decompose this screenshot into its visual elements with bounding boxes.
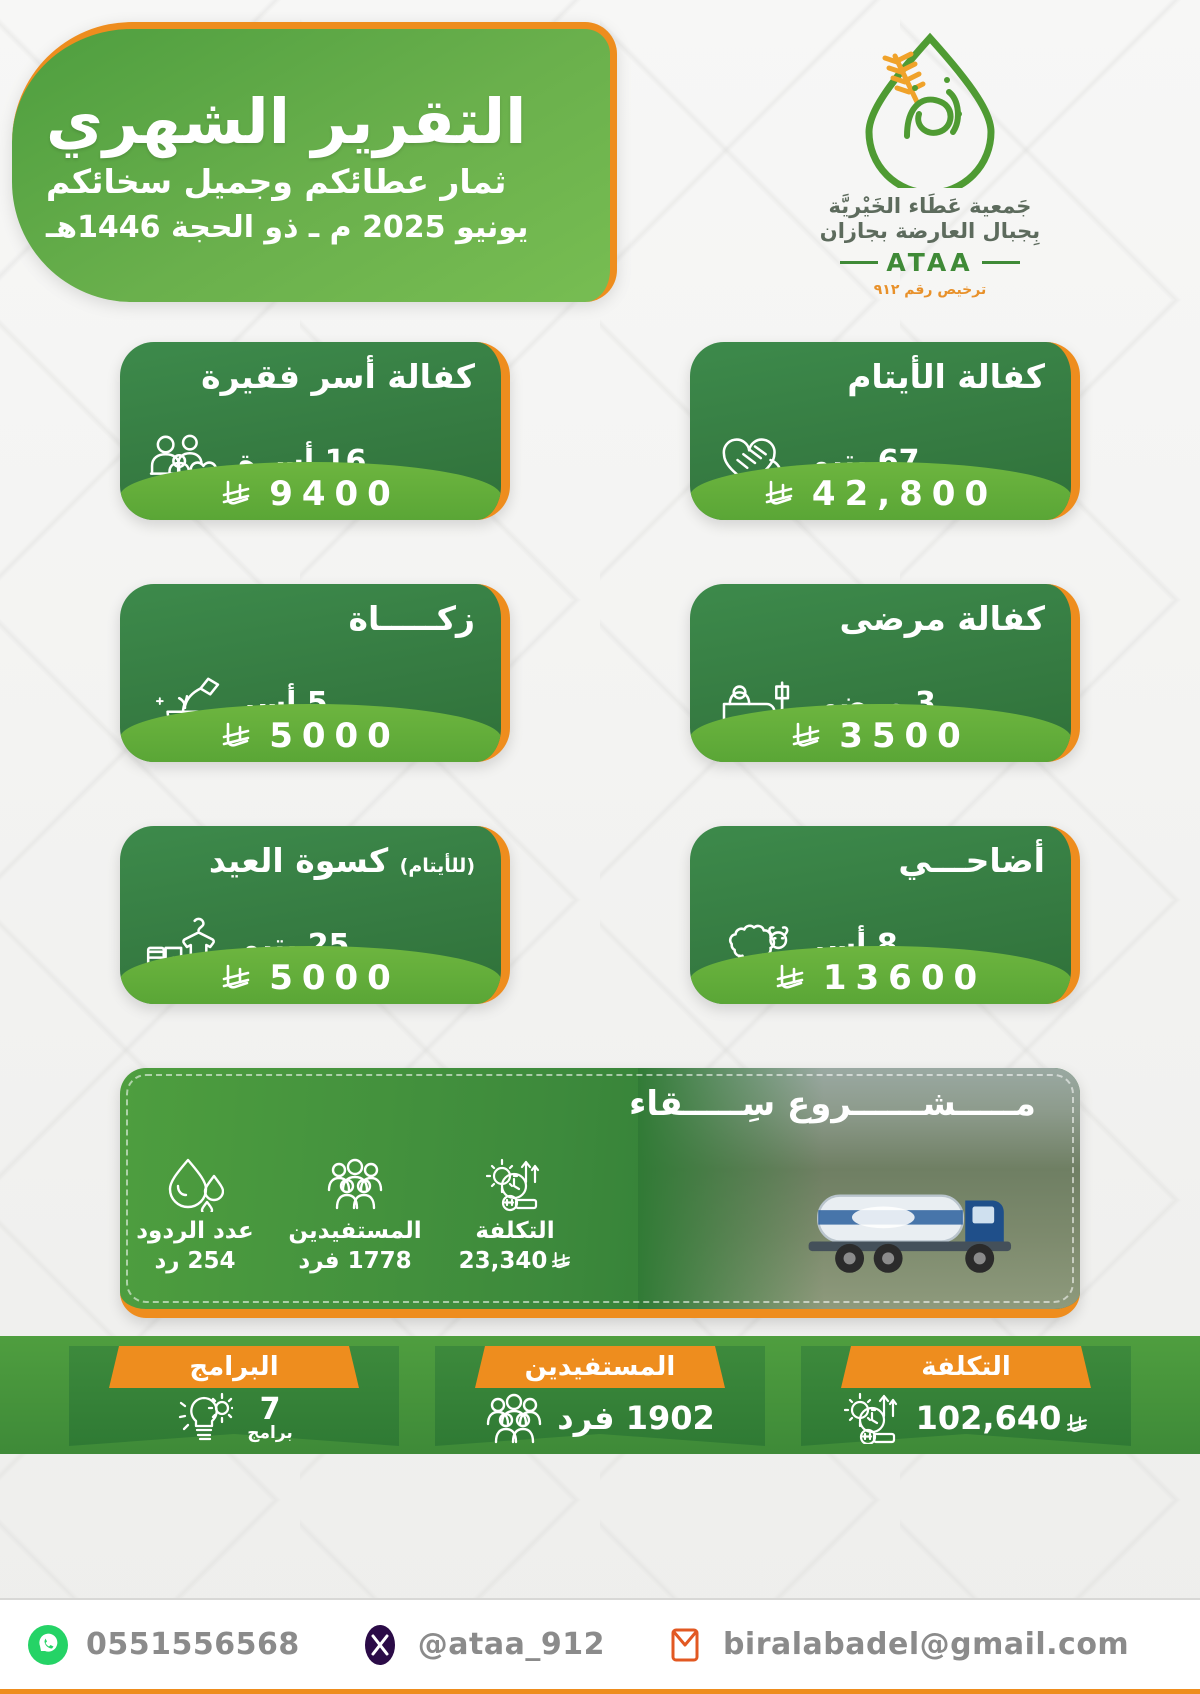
card-amount-value: 13600 xyxy=(823,958,986,998)
logo-name-english: ATAA xyxy=(780,248,1080,277)
logo-name-line1: جَمعية عَطَاء الخَيْريَّة xyxy=(780,194,1080,219)
card-amount-value: 3500 xyxy=(839,716,970,756)
saudi-riyal-icon xyxy=(791,720,821,752)
water-stat-label: المستفيدين xyxy=(280,1218,430,1244)
summary-box-tab: البرامج xyxy=(109,1346,359,1388)
summary-box-programs: البرامج 7 برامج xyxy=(69,1346,399,1446)
card-amount-value: 5000 xyxy=(269,716,400,756)
email-icon xyxy=(663,1623,707,1667)
footer-contact-bar: 0551556568 @ataa_912 biralabadel@gmail.c… xyxy=(0,1598,1200,1694)
water-stat-value-wrap: 1778 فرد xyxy=(280,1248,430,1274)
water-stat-cost: التكلفة 23,340 xyxy=(440,1150,590,1274)
summary-value: 102,640 xyxy=(916,1399,1062,1437)
card-amount-value: 42,800 xyxy=(812,474,997,514)
report-date: يونيو 2025 م ـ ذو الحجة 1446هـ xyxy=(46,208,528,247)
program-card-zakat[interactable]: زكـــــاة xyxy=(120,584,510,762)
water-stat-value: 23,340 xyxy=(459,1248,548,1274)
contact-whatsapp[interactable]: 0551556568 xyxy=(26,1623,300,1667)
organization-logo: جَمعية عَطَاء الخَيْريَّة بِجبال العارضة… xyxy=(780,28,1080,298)
card-title: زكـــــاة xyxy=(146,600,475,638)
card-title: كفالة الأيتام xyxy=(716,358,1045,396)
people-group-icon xyxy=(280,1150,430,1212)
program-cards: كفالة الأيتام 67 يتيم 42,800 xyxy=(0,342,1200,1004)
water-stat-value-wrap: 23,340 xyxy=(440,1248,590,1274)
summary-unit: برامج xyxy=(247,1425,293,1442)
page-subtitle: ثمار عطائكم وجميل سخائكم xyxy=(46,162,506,202)
logo-license: ترخيص رقم ٩١٢ xyxy=(780,282,1080,298)
logo-name-line2: بِجبال العارضة بجازان xyxy=(780,219,1080,244)
summary-strip: البرامج 7 برامج xyxy=(0,1336,1200,1454)
summary-box-content: 1902 فرد xyxy=(435,1392,765,1444)
saudi-riyal-icon xyxy=(221,720,251,752)
summary-box-content: 102,640 xyxy=(801,1392,1131,1444)
card-title: كفالة مرضى xyxy=(716,600,1045,638)
program-row: كفالة الأيتام 67 يتيم 42,800 xyxy=(120,342,1080,520)
contact-x-twitter[interactable]: @ataa_912 xyxy=(358,1623,605,1667)
water-stat-value: 1778 فرد xyxy=(298,1248,411,1274)
card-amount-value: 5000 xyxy=(269,958,400,998)
gear-bulb-icon xyxy=(175,1392,233,1444)
summary-label: التكلفة xyxy=(921,1352,1011,1382)
summary-value: 1902 فرد xyxy=(557,1399,714,1437)
program-card-orphan-sponsorship[interactable]: كفالة الأيتام 67 يتيم 42,800 xyxy=(690,342,1080,520)
water-stat-label: عدد الردود xyxy=(120,1218,270,1244)
water-drop-icon xyxy=(120,1150,270,1212)
card-title: أضاحـــي xyxy=(716,842,1045,880)
saudi-riyal-icon xyxy=(551,1250,571,1272)
contact-text: @ataa_912 xyxy=(418,1627,605,1662)
page-title: التقرير الشهري xyxy=(46,88,526,156)
cost-clock-icon xyxy=(844,1392,902,1444)
logo-droplet-icon xyxy=(855,28,1005,188)
program-row: أضاحـــي 8 أسر 13600 xyxy=(120,826,1080,1004)
infographic-page: جَمعية عَطَاء الخَيْريَّة بِجبال العارضة… xyxy=(0,0,1200,1694)
summary-label: المستفيدين xyxy=(525,1352,676,1382)
program-card-poor-families[interactable]: كفالة أسر فقيرة xyxy=(120,342,510,520)
logo-name-arabic: جَمعية عَطَاء الخَيْريَّة بِجبال العارضة… xyxy=(780,194,1080,244)
water-stat-value: 254 رد xyxy=(154,1248,235,1274)
summary-value-wrap: 7 برامج xyxy=(247,1395,293,1442)
water-project-title: مـــــشــــــروع سِـــــقاء xyxy=(120,1084,1046,1124)
program-card-patients[interactable]: كفالة مرضى 3 مرضى xyxy=(690,584,1080,762)
saudi-riyal-icon xyxy=(1066,1406,1088,1430)
card-title-note: (للأيتام) xyxy=(400,855,475,877)
saudi-riyal-icon xyxy=(221,962,251,994)
water-project-content: مـــــشــــــروع سِـــــقاء عدد الردود 2… xyxy=(120,1068,1080,1309)
saudi-riyal-icon xyxy=(764,478,794,510)
title-card: التقرير الشهري ثمار عطائكم وجميل سخائكم … xyxy=(12,22,617,302)
water-project-stats: عدد الردود 254 رد xyxy=(120,1150,1046,1274)
water-stat-beneficiaries: المستفيدين 1778 فرد xyxy=(280,1150,430,1274)
summary-value-wrap: 1902 فرد xyxy=(557,1399,714,1437)
people-group-icon xyxy=(485,1392,543,1444)
saudi-riyal-icon xyxy=(775,962,805,994)
logo-en-text: ATAA xyxy=(886,248,973,277)
water-stat-responses: عدد الردود 254 رد xyxy=(120,1150,270,1274)
summary-box-cost: التكلفة xyxy=(801,1346,1131,1446)
whatsapp-icon xyxy=(26,1623,70,1667)
water-stat-label: التكلفة xyxy=(440,1218,590,1244)
card-title-main: كسوة العيد xyxy=(209,841,388,880)
card-title: (للأيتام) كسوة العيد xyxy=(146,842,475,880)
summary-label: البرامج xyxy=(189,1352,278,1382)
header: جَمعية عَطَاء الخَيْريَّة بِجبال العارضة… xyxy=(0,0,1200,320)
summary-value: 7 xyxy=(260,1395,281,1425)
summary-box-beneficiaries: المستفيدين 1902 فرد xyxy=(435,1346,765,1446)
contact-email[interactable]: biralabadel@gmail.com xyxy=(663,1623,1129,1667)
program-card-sacrifices[interactable]: أضاحـــي 8 أسر 13600 xyxy=(690,826,1080,1004)
water-project-card[interactable]: مـــــشــــــروع سِـــــقاء عدد الردود 2… xyxy=(120,1068,1080,1318)
cost-gear-icon xyxy=(440,1150,590,1212)
contact-text: biralabadel@gmail.com xyxy=(723,1627,1129,1662)
summary-value-wrap: 102,640 xyxy=(916,1399,1089,1437)
summary-box-content: 7 برامج xyxy=(69,1392,399,1444)
program-row: كفالة مرضى 3 مرضى xyxy=(120,584,1080,762)
summary-box-tab: التكلفة xyxy=(841,1346,1091,1388)
contact-text: 0551556568 xyxy=(86,1627,300,1662)
x-twitter-icon xyxy=(358,1623,402,1667)
card-title: كفالة أسر فقيرة xyxy=(146,358,475,396)
program-card-eid-clothing[interactable]: (للأيتام) كسوة العيد 25 يتيم xyxy=(120,826,510,1004)
saudi-riyal-icon xyxy=(221,478,251,510)
summary-box-tab: المستفيدين xyxy=(475,1346,725,1388)
water-stat-value-wrap: 254 رد xyxy=(120,1248,270,1274)
card-amount-value: 9400 xyxy=(269,474,400,514)
